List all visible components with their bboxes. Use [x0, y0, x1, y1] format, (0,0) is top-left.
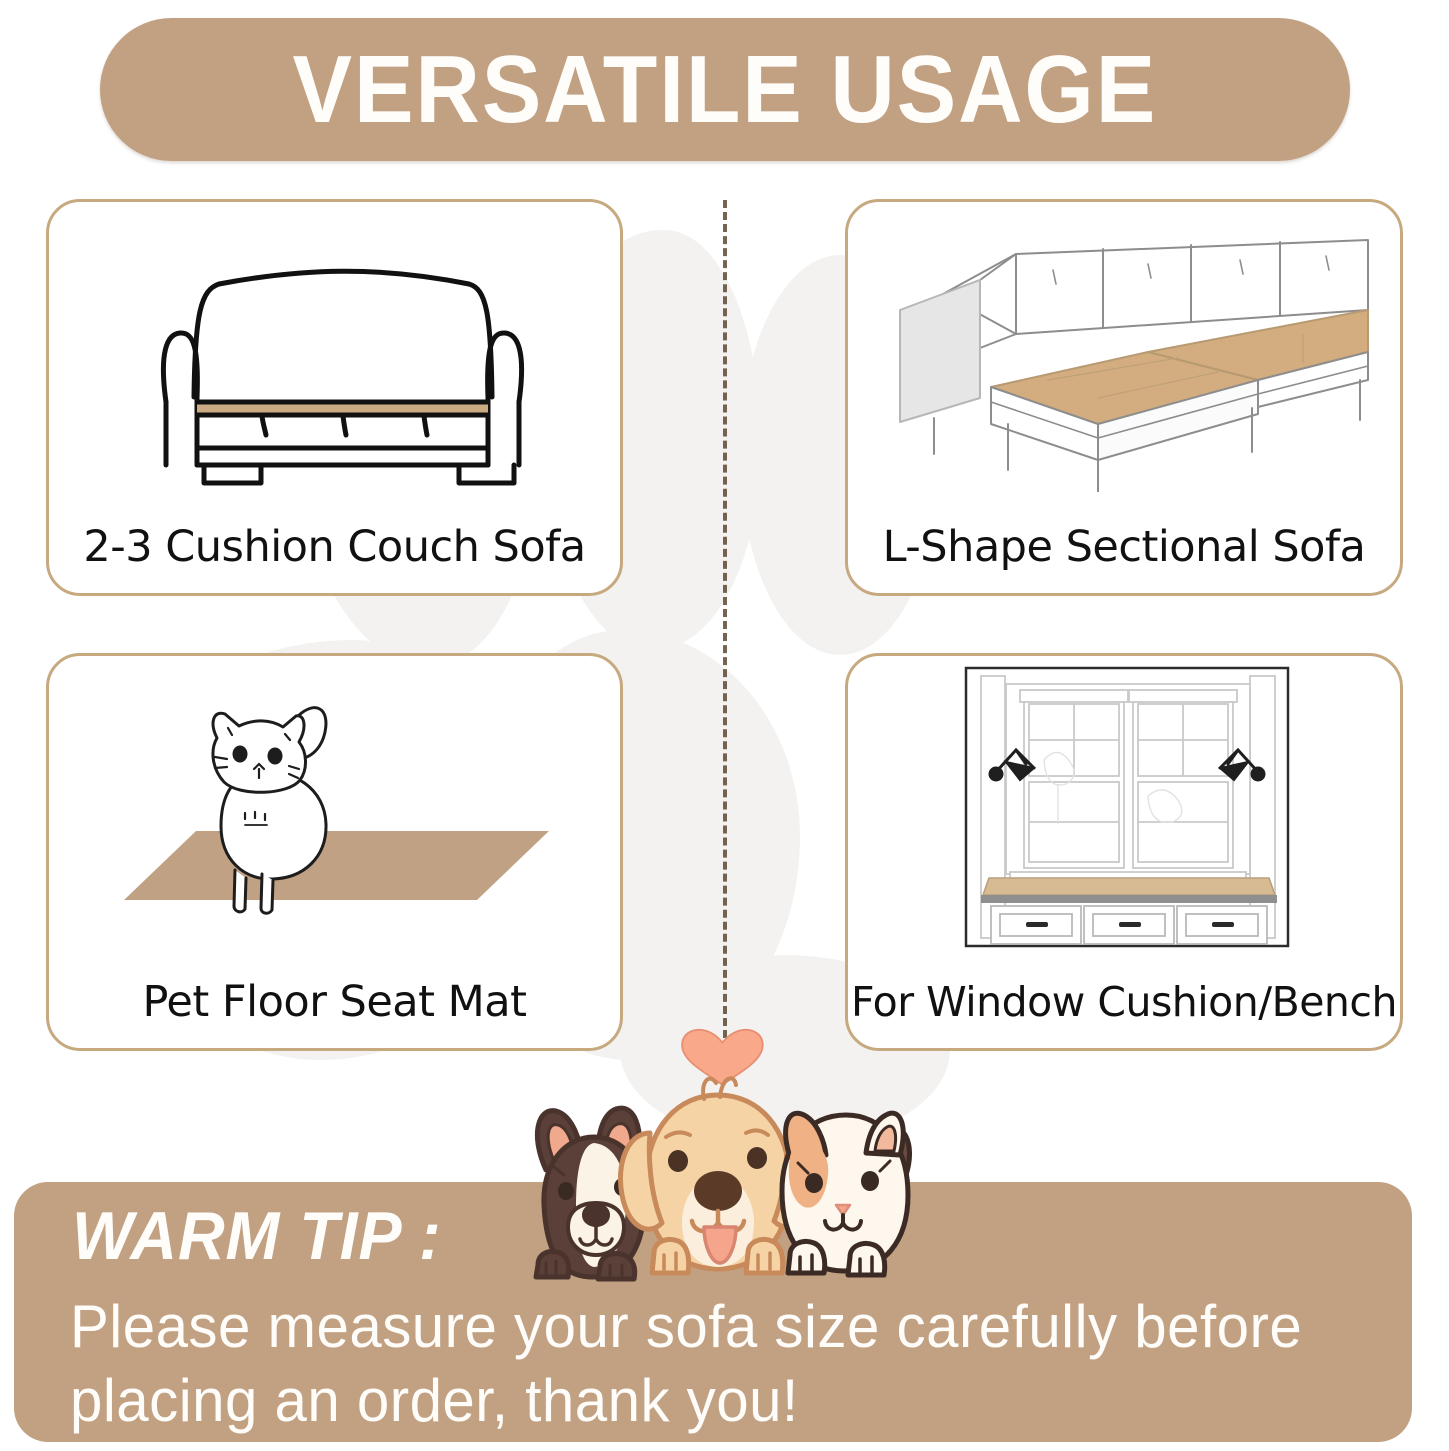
pets-group-icon	[498, 1015, 948, 1300]
warm-tip-line-2: placing an order, thank you!	[70, 1364, 1360, 1438]
warm-tip-line-1: Please measure your sofa size carefully …	[70, 1290, 1360, 1364]
page-title: VERSATILE USAGE	[293, 42, 1158, 138]
usage-card-pet-floor-mat: Pet Floor Seat Mat	[46, 653, 623, 1051]
vertical-dashed-divider	[723, 200, 727, 1038]
pets-illustration	[498, 1015, 948, 1300]
window-bench-icon	[848, 656, 1400, 956]
warm-tip-heading: WARM TIP :	[72, 1200, 442, 1272]
couch-sofa-icon	[49, 202, 620, 492]
card-label-pet-floor-mat: Pet Floor Seat Mat	[143, 978, 527, 1048]
card-label-l-shape-sectional: L-Shape Sectional Sofa	[883, 523, 1366, 593]
usage-card-l-shape-sectional: L-Shape Sectional Sofa	[845, 199, 1403, 596]
pet-floor-mat-illustration	[49, 656, 620, 978]
usage-card-window-bench: For Window Cushion/Bench	[845, 653, 1403, 1051]
couch-sofa-illustration	[49, 202, 620, 523]
header-banner: VERSATILE USAGE	[100, 18, 1350, 161]
window-bench-illustration	[848, 656, 1400, 978]
cat-icon	[782, 1113, 910, 1275]
infographic-stage: VERSATILE USAGE	[0, 0, 1449, 1451]
warm-tip-body: Please measure your sofa size carefully …	[70, 1290, 1360, 1438]
heart-icon	[682, 1030, 763, 1085]
card-label-couch-sofa: 2-3 Cushion Couch Sofa	[83, 523, 585, 593]
bench-cushion	[983, 878, 1275, 895]
cat-on-mat-icon	[49, 656, 620, 956]
l-shape-sectional-illustration	[848, 202, 1400, 523]
l-shape-sectional-icon	[848, 202, 1400, 492]
usage-card-couch-sofa: 2-3 Cushion Couch Sofa	[46, 199, 623, 596]
floor-mat-shape	[124, 831, 549, 900]
